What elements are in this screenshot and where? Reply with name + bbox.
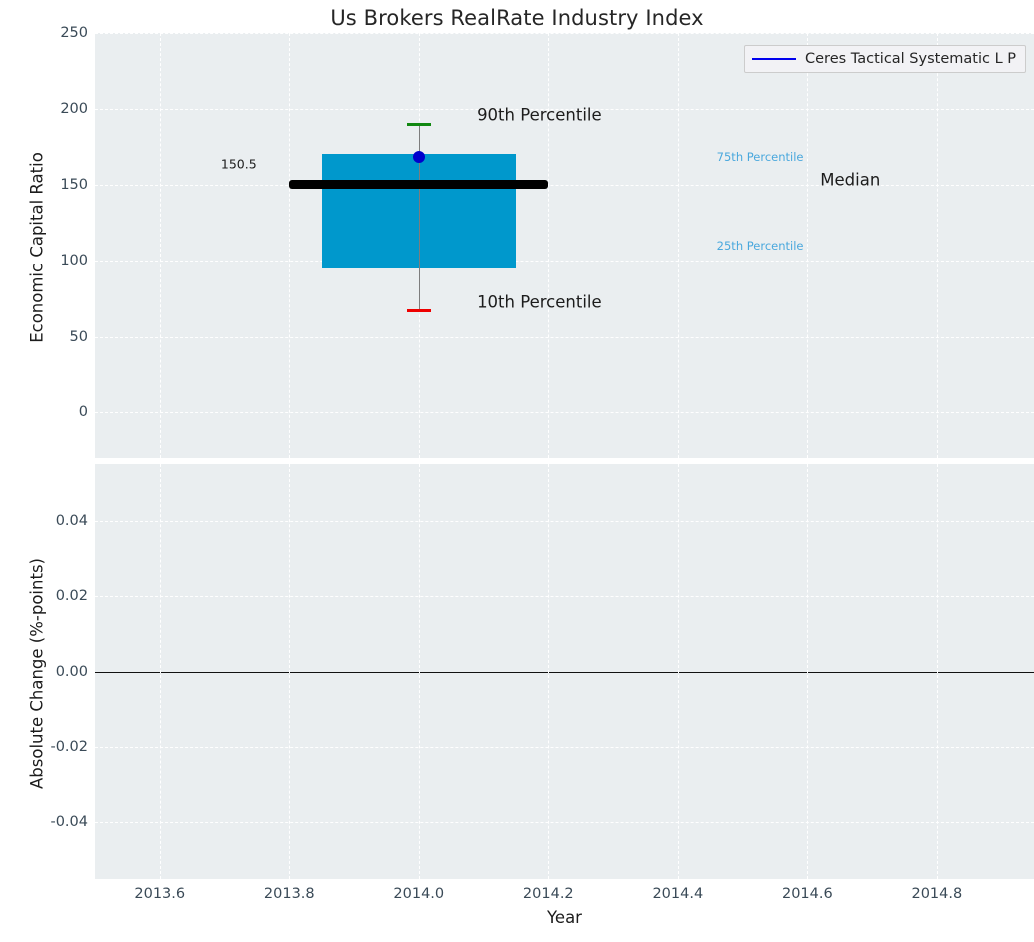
gridline-horizontal [95,596,1034,597]
y-tick-label: 0.04 [8,513,88,529]
y-axis-ticks-bottom: 0.040.020.00-0.02-0.04 [5,464,88,879]
y-tick-label: 150 [8,177,88,193]
annotation-75th-percentile: 75th Percentile [717,150,804,164]
gridline-vertical [807,33,808,458]
chart-figure: Us Brokers RealRate Industry Index 150.5… [0,0,1034,942]
median-line [289,180,548,189]
annotation-10th-percentile: 10th Percentile [477,292,602,311]
y-tick-label: -0.04 [8,814,88,830]
gridline-horizontal [95,261,1034,262]
y-axis-label-bottom: Absolute Change (%-points) [28,474,47,874]
x-axis-label: Year [95,908,1034,927]
x-tick-label: 2014.6 [782,886,833,902]
x-tick-label: 2014.4 [652,886,703,902]
page-title: Us Brokers RealRate Industry Index [0,6,1034,30]
gridline-horizontal [95,521,1034,522]
plot-panel-economic-capital-ratio: 150.590th Percentile75th PercentileMedia… [95,33,1034,458]
annotation-90th-percentile: 90th Percentile [477,105,602,124]
zero-reference-line [95,672,1034,673]
gridline-vertical [160,33,161,458]
y-tick-label: 0.02 [8,588,88,604]
gridline-horizontal [95,33,1034,34]
plot-panel-absolute-change [95,464,1034,879]
gridline-horizontal [95,412,1034,413]
median-value-label: 150.5 [221,157,257,172]
gridline-vertical [548,33,549,458]
x-tick-label: 2013.6 [134,886,185,902]
y-tick-label: -0.02 [8,739,88,755]
gridline-horizontal [95,185,1034,186]
y-tick-label: 250 [8,25,88,41]
y-axis-ticks-top: 050100150200250 [5,33,88,458]
y-tick-label: 50 [8,329,88,345]
gridline-horizontal [95,337,1034,338]
gridline-horizontal [95,747,1034,748]
annotation-median: Median [820,171,880,190]
gridline-horizontal [95,822,1034,823]
y-tick-label: 0.00 [8,664,88,680]
x-tick-label: 2013.8 [264,886,315,902]
gridline-vertical [289,33,290,458]
x-tick-label: 2014.0 [393,886,444,902]
annotation-25th-percentile: 25th Percentile [717,239,804,253]
x-tick-label: 2014.8 [911,886,962,902]
y-tick-label: 100 [8,253,88,269]
legend-line-swatch [752,58,796,60]
y-axis-label-top: Economic Capital Ratio [28,68,47,428]
whisker-cap-10th [407,309,431,312]
chart-legend[interactable]: Ceres Tactical Systematic L P [744,45,1026,73]
gridline-vertical [937,33,938,458]
company-value-marker [413,151,425,163]
y-tick-label: 0 [8,404,88,420]
whisker-cap-90th [407,123,431,126]
y-tick-label: 200 [8,101,88,117]
gridline-vertical [678,33,679,458]
legend-item-label: Ceres Tactical Systematic L P [805,51,1016,67]
x-tick-label: 2014.2 [523,886,574,902]
